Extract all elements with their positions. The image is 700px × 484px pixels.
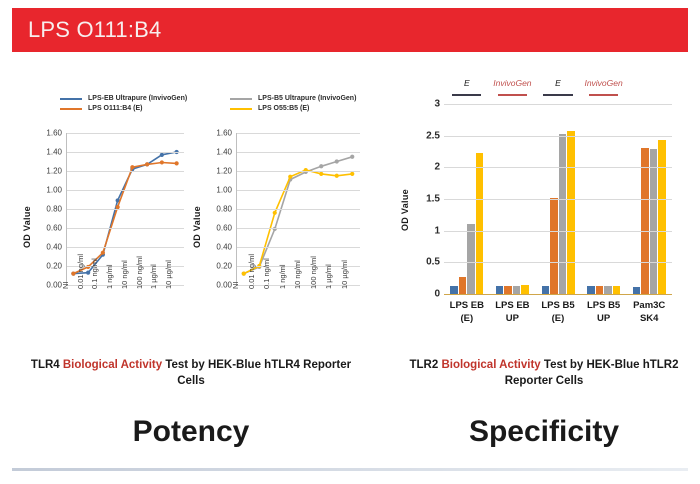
x-axis-tick: 0.01 ng/ml	[247, 254, 256, 289]
y-axis-tick: 1.60	[202, 129, 232, 138]
x-axis-group-label: LPS EB(E)	[444, 299, 490, 325]
bar	[550, 198, 558, 294]
bar	[633, 287, 641, 294]
bar	[596, 286, 604, 294]
y-axis-title: OD Value	[192, 153, 202, 248]
x-axis-tick: 0.01 ng/ml	[76, 254, 85, 289]
caption-highlight: Biological Activity	[441, 359, 540, 371]
y-axis-tick: 1.5	[412, 194, 440, 205]
source-annotation-underline	[589, 94, 618, 96]
gridline	[444, 231, 672, 232]
y-axis-tick: 0.60	[202, 224, 232, 233]
bar	[613, 286, 621, 294]
x-axis-tick: 10 ng/ml	[120, 260, 129, 289]
y-axis-tick: 1.20	[202, 167, 232, 176]
gridline	[444, 104, 672, 105]
x-axis-tick: NI	[231, 282, 240, 290]
y-axis-tick: 0.40	[202, 243, 232, 252]
x-axis-tick: 0.1 ng/ml	[90, 258, 99, 289]
gridline	[444, 262, 672, 263]
bar	[658, 140, 666, 294]
x-axis-line	[444, 294, 672, 295]
bar	[521, 285, 529, 295]
bar	[559, 134, 567, 294]
y-axis-tick: 1.60	[32, 129, 62, 138]
x-axis-group-label: Pam3CSK4	[626, 299, 672, 325]
bar	[467, 224, 475, 294]
bar	[567, 131, 575, 294]
y-axis-tick: 1.00	[202, 186, 232, 195]
gridline	[66, 247, 184, 248]
legend-item: LPS-B5 Ultrapure (InvivoGen)	[230, 95, 356, 102]
x-axis-tick: UP	[490, 312, 536, 325]
bar	[542, 286, 550, 294]
legend-label: LPS O111:B4 (E)	[88, 105, 142, 112]
bar	[641, 148, 649, 294]
source-annotation: E	[444, 78, 490, 88]
legend-tlr4-eb: LPS-EB Ultrapure (InvivoGen) LPS O111:B4…	[60, 95, 187, 115]
gridline	[236, 228, 360, 229]
legend-swatch-yellow-icon	[230, 108, 252, 110]
x-axis-tick: (E)	[535, 312, 581, 325]
y-axis-tick: 1.40	[202, 148, 232, 157]
x-axis-tick: (E)	[444, 312, 490, 325]
gridline	[444, 136, 672, 137]
line-chart-tlr4-b5: OD Value 0.000.200.400.600.801.001.201.4…	[192, 125, 367, 340]
y-axis-line	[236, 133, 237, 285]
specificity-label: Specificity	[404, 415, 684, 449]
x-axis-tick: 0.1 ng/ml	[262, 258, 271, 289]
x-axis-tick: 1 µg/ml	[149, 264, 158, 289]
legend-swatch-orange-icon	[60, 108, 82, 110]
gridline	[66, 209, 184, 210]
x-axis-tick: 1 ng/ml	[278, 264, 287, 289]
x-axis-tick: 10 ng/ml	[293, 260, 302, 289]
legend-tlr4-b5: LPS-B5 Ultrapure (InvivoGen) LPS O55:B5 …	[230, 95, 356, 115]
bar	[459, 277, 467, 294]
tlr2-chart-panel: OD Value 00.511.522.53 LPS EB(E)LPS EBUP…	[398, 76, 678, 346]
tlr4-caption: TLR4 Biological Activity Test by HEK-Blu…	[26, 357, 356, 389]
source-annotation: InvivoGen	[581, 78, 627, 88]
x-axis-tick: 10 µg/ml	[340, 260, 349, 289]
footer-divider	[12, 468, 688, 471]
x-axis-tick: 100 ng/ml	[135, 256, 144, 289]
y-axis-tick: 1.00	[32, 186, 62, 195]
y-axis-tick: 0.5	[412, 257, 440, 268]
legend-label: LPS-EB Ultrapure (InvivoGen)	[88, 95, 187, 102]
source-annotation: E	[535, 78, 581, 88]
line-chart-tlr4-eb: OD Value 0.000.200.400.600.801.001.201.4…	[22, 125, 190, 340]
x-axis-tick: LPS B5	[535, 299, 581, 312]
bar	[587, 286, 595, 294]
x-axis-tick: 10 µg/ml	[164, 260, 173, 289]
legend-item: LPS O111:B4 (E)	[60, 105, 187, 112]
bar	[513, 286, 521, 294]
gridline	[236, 171, 360, 172]
title-banner: LPS O111:B4	[12, 8, 688, 52]
legend-swatch-blue-icon	[60, 98, 82, 100]
bar	[650, 149, 658, 294]
caption-highlight: Biological Activity	[63, 359, 162, 371]
y-axis-title: OD Value	[400, 136, 410, 231]
legend-swatch-gray-icon	[230, 98, 252, 100]
source-annotation-underline	[543, 94, 572, 96]
gridline	[66, 152, 184, 153]
gridline	[236, 152, 360, 153]
tlr4-chart-panel: LPS-EB Ultrapure (InvivoGen) LPS O111:B4…	[22, 95, 367, 345]
x-axis-tick: 1 µg/ml	[324, 264, 333, 289]
x-axis-tick: LPS EB	[490, 299, 536, 312]
potency-label: Potency	[26, 415, 356, 449]
y-axis-tick: 0.80	[32, 205, 62, 214]
bar	[504, 286, 512, 294]
bar	[476, 153, 484, 294]
tlr2-caption: TLR2 Biological Activity Test by HEK-Blu…	[404, 357, 684, 389]
legend-item: LPS-EB Ultrapure (InvivoGen)	[60, 95, 187, 102]
y-axis-tick: 0.20	[32, 262, 62, 271]
y-axis-tick: 0.40	[32, 243, 62, 252]
x-axis-tick: NI	[61, 282, 70, 290]
gridline	[236, 247, 360, 248]
y-axis-tick: 0.00	[202, 281, 232, 290]
y-axis-tick: 0.80	[202, 205, 232, 214]
source-annotation: InvivoGen	[490, 78, 536, 88]
gridline	[444, 167, 672, 168]
caption-suffix: Test by HEK-Blue hTLR4 Reporter Cells	[162, 359, 351, 387]
source-annotation-underline	[498, 94, 527, 96]
gridline	[236, 209, 360, 210]
x-axis-group-label: LPS B5UP	[581, 299, 627, 325]
x-axis-tick: LPS B5	[581, 299, 627, 312]
gridline	[66, 171, 184, 172]
y-axis-tick: 0.20	[202, 262, 232, 271]
gridline	[236, 133, 360, 134]
y-axis-tick: 1	[412, 225, 440, 236]
x-axis-tick: 100 ng/ml	[309, 256, 318, 289]
caption-prefix: TLR2	[409, 359, 441, 371]
legend-label: LPS-B5 Ultrapure (InvivoGen)	[258, 95, 356, 102]
x-axis-tick: 1 ng/ml	[105, 264, 114, 289]
x-axis-tick: LPS EB	[444, 299, 490, 312]
gridline	[66, 190, 184, 191]
x-axis-tick: Pam3C	[626, 299, 672, 312]
slide-canvas: LPS O111:B4 LPS-EB Ultrapure (InvivoGen)…	[0, 0, 700, 484]
x-axis-tick: UP	[581, 312, 627, 325]
y-axis-line	[66, 133, 67, 285]
bar	[604, 286, 612, 294]
y-axis-tick: 2.5	[412, 130, 440, 141]
y-axis-tick: 3	[412, 99, 440, 110]
y-axis-tick: 0.60	[32, 224, 62, 233]
caption-prefix: TLR4	[31, 359, 63, 371]
y-axis-tick: 1.40	[32, 148, 62, 157]
legend-item: LPS O55:B5 (E)	[230, 105, 356, 112]
gridline	[444, 199, 672, 200]
y-axis-tick: 0.00	[32, 281, 62, 290]
x-axis-group-label: LPS EBUP	[490, 299, 536, 325]
legend-label: LPS O55:B5 (E)	[258, 105, 309, 112]
bar	[496, 286, 504, 294]
gridline	[66, 133, 184, 134]
x-axis-tick: SK4	[626, 312, 672, 325]
y-axis-tick: 2	[412, 162, 440, 173]
gridline	[66, 228, 184, 229]
x-axis-group-label: LPS B5(E)	[535, 299, 581, 325]
y-axis-tick: 0	[412, 289, 440, 300]
gridline	[236, 190, 360, 191]
y-axis-title: OD Value	[22, 153, 32, 248]
y-axis-tick: 1.20	[32, 167, 62, 176]
bar	[450, 286, 458, 294]
page-title: LPS O111:B4	[12, 17, 161, 43]
source-annotation-underline	[452, 94, 481, 96]
